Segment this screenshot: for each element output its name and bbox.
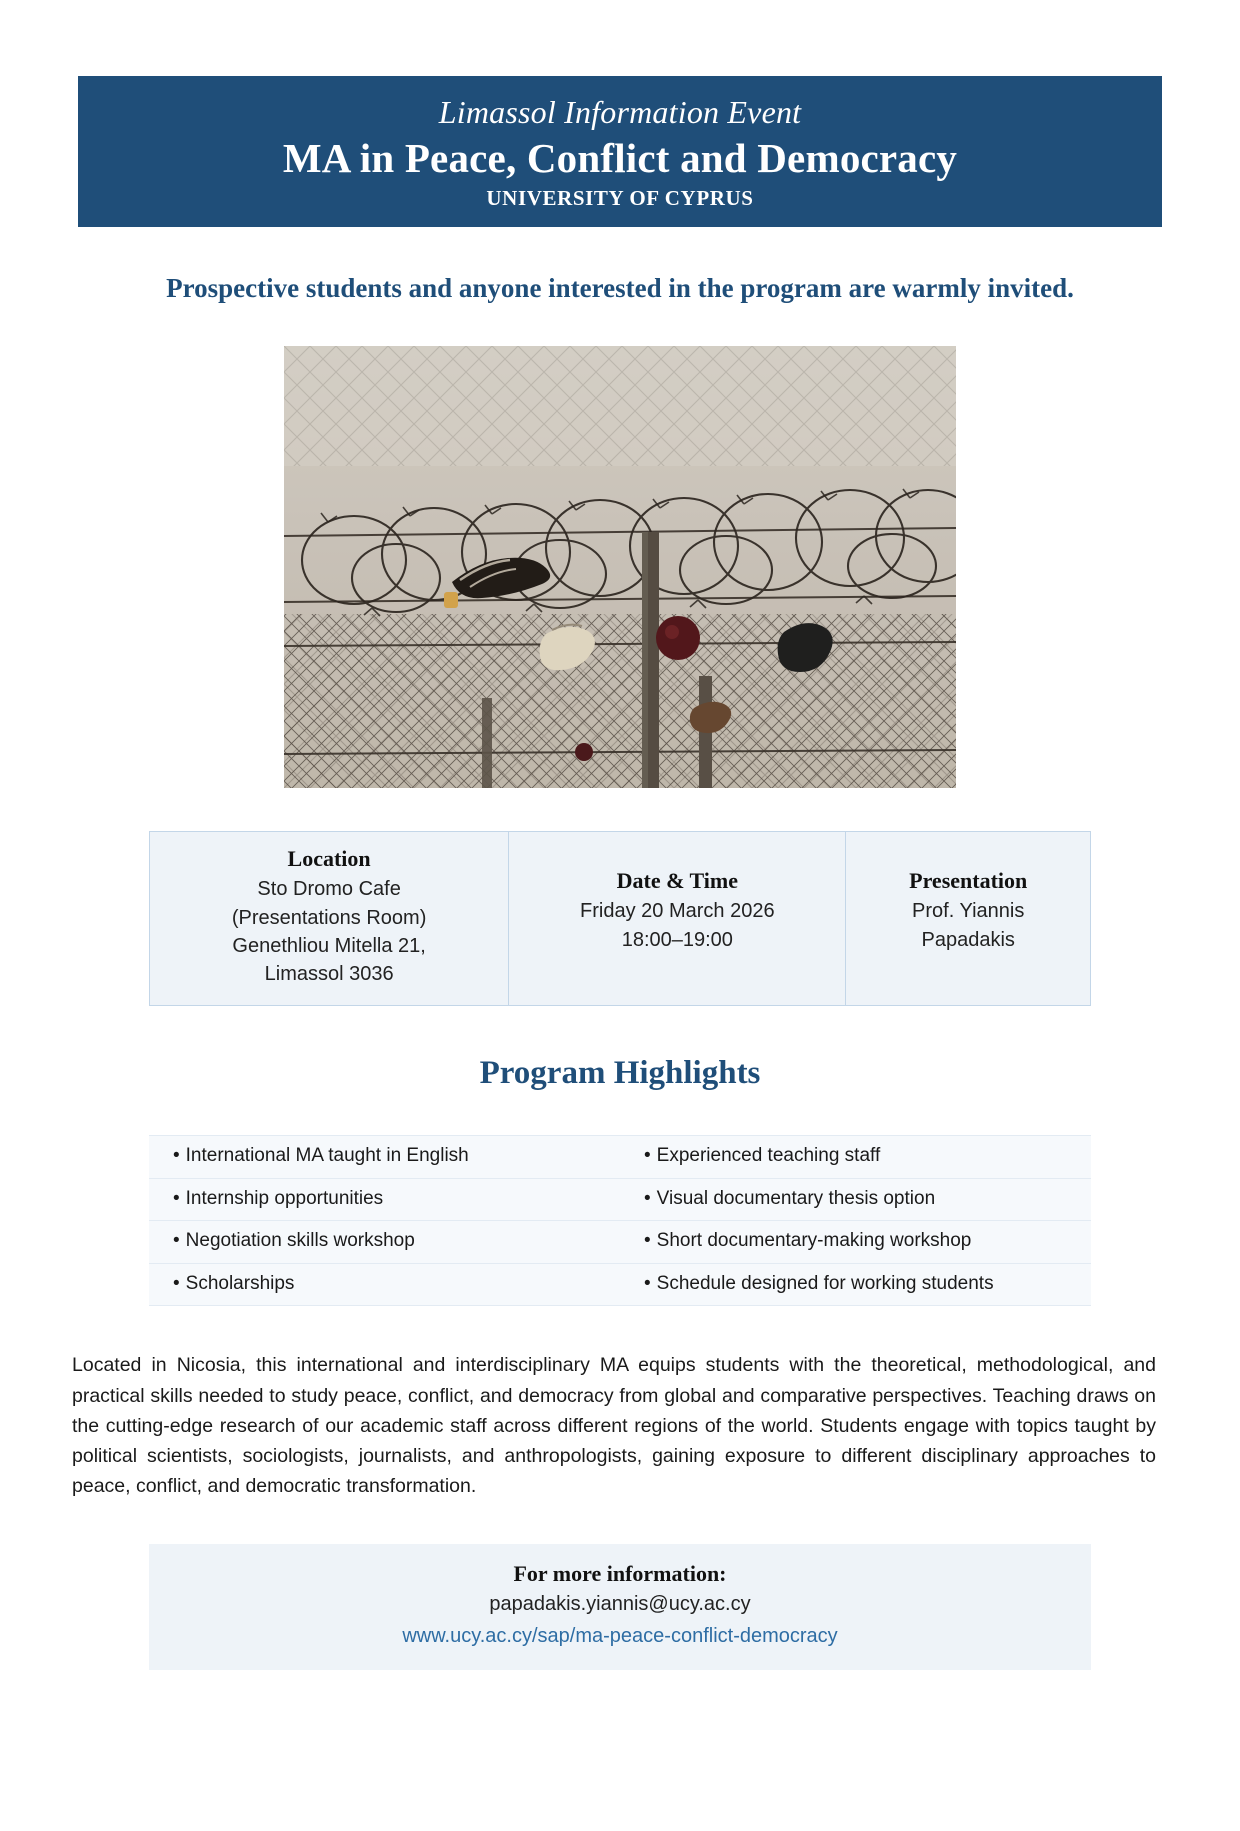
highlight-label: Experienced teaching staff [657, 1145, 881, 1166]
highlight-cell: •Negotiation skills workshop [149, 1221, 620, 1264]
datetime-cell: Date & Time Friday 20 March 2026 18:00–1… [509, 832, 846, 1005]
highlight-label: Scholarships [186, 1273, 295, 1294]
bullet-icon: • [644, 1227, 651, 1256]
bullet-icon: • [173, 1270, 180, 1299]
program-highlights-table: •International MA taught in English •Exp… [149, 1135, 1091, 1306]
datetime-line-1: Friday 20 March 2026 [519, 897, 835, 925]
highlight-label: Schedule designed for working students [657, 1273, 994, 1294]
bullet-icon: • [173, 1142, 180, 1171]
highlight-cell: •Internship opportunities [149, 1178, 620, 1221]
table-row: •Scholarships •Schedule designed for wor… [149, 1263, 1091, 1306]
table-row: •Negotiation skills workshop •Short docu… [149, 1221, 1091, 1264]
contact-title: For more information: [159, 1558, 1081, 1590]
contact-box: For more information: papadakis.yiannis@… [149, 1544, 1091, 1671]
event-details-table: Location Sto Dromo Cafe (Presentations R… [149, 831, 1091, 1005]
location-line-4: Limassol 3036 [160, 960, 498, 988]
table-row: •International MA taught in English •Exp… [149, 1136, 1091, 1179]
bullet-icon: • [173, 1227, 180, 1256]
header-banner: Limassol Information Event MA in Peace, … [78, 76, 1162, 227]
poster-page: Limassol Information Event MA in Peace, … [0, 76, 1240, 1831]
location-title: Location [160, 844, 498, 875]
presenter-cell: Presentation Prof. Yiannis Papadakis [846, 832, 1091, 1005]
bullet-icon: • [644, 1185, 651, 1214]
highlight-cell: •Short documentary-making workshop [620, 1221, 1091, 1264]
datetime-title: Date & Time [519, 844, 835, 897]
photo-container [78, 346, 1162, 788]
program-website-link[interactable]: www.ucy.ac.cy/sap/ma-peace-conflict-demo… [402, 1621, 837, 1652]
highlight-label: Negotiation skills workshop [186, 1230, 415, 1251]
page-title: MA in Peace, Conflict and Democracy [98, 134, 1142, 182]
location-line-2: (Presentations Room) [160, 904, 498, 932]
program-highlights-heading: Program Highlights [78, 1054, 1162, 1094]
bullet-icon: • [644, 1270, 651, 1299]
highlight-label: International MA taught in English [186, 1145, 469, 1166]
location-cell: Location Sto Dromo Cafe (Presentations R… [150, 832, 509, 1005]
highlight-cell: •Visual documentary thesis option [620, 1178, 1091, 1221]
highlight-label: Short documentary-making workshop [657, 1230, 972, 1251]
highlight-cell: •Schedule designed for working students [620, 1263, 1091, 1306]
contact-email[interactable]: papadakis.yiannis@ucy.ac.cy [159, 1589, 1081, 1619]
presenter-title: Presentation [856, 844, 1080, 897]
invitation-text: Prospective students and anyone interest… [155, 271, 1085, 306]
datetime-line-2: 18:00–19:00 [519, 926, 835, 954]
bullet-icon: • [644, 1142, 651, 1171]
highlight-cell: •Scholarships [149, 1263, 620, 1306]
table-row: •Internship opportunities •Visual docume… [149, 1178, 1091, 1221]
location-line-3: Genethliou Mitella 21, [160, 932, 498, 960]
highlight-cell: •International MA taught in English [149, 1136, 620, 1179]
table-row: Location Sto Dromo Cafe (Presentations R… [150, 832, 1091, 1005]
program-description: Located in Nicosia, this international a… [72, 1350, 1156, 1501]
bullet-icon: • [173, 1185, 180, 1214]
institution-name: UNIVERSITY OF CYPRUS [98, 186, 1142, 211]
highlight-label: Visual documentary thesis option [657, 1188, 935, 1209]
highlight-label: Internship opportunities [186, 1188, 384, 1209]
event-eyebrow: Limassol Information Event [98, 94, 1142, 131]
barbed-wire-photo [284, 346, 956, 788]
highlight-cell: •Experienced teaching staff [620, 1136, 1091, 1179]
presenter-line-1: Prof. Yiannis [856, 897, 1080, 925]
presenter-line-2: Papadakis [856, 926, 1080, 954]
location-line-1: Sto Dromo Cafe [160, 875, 498, 903]
